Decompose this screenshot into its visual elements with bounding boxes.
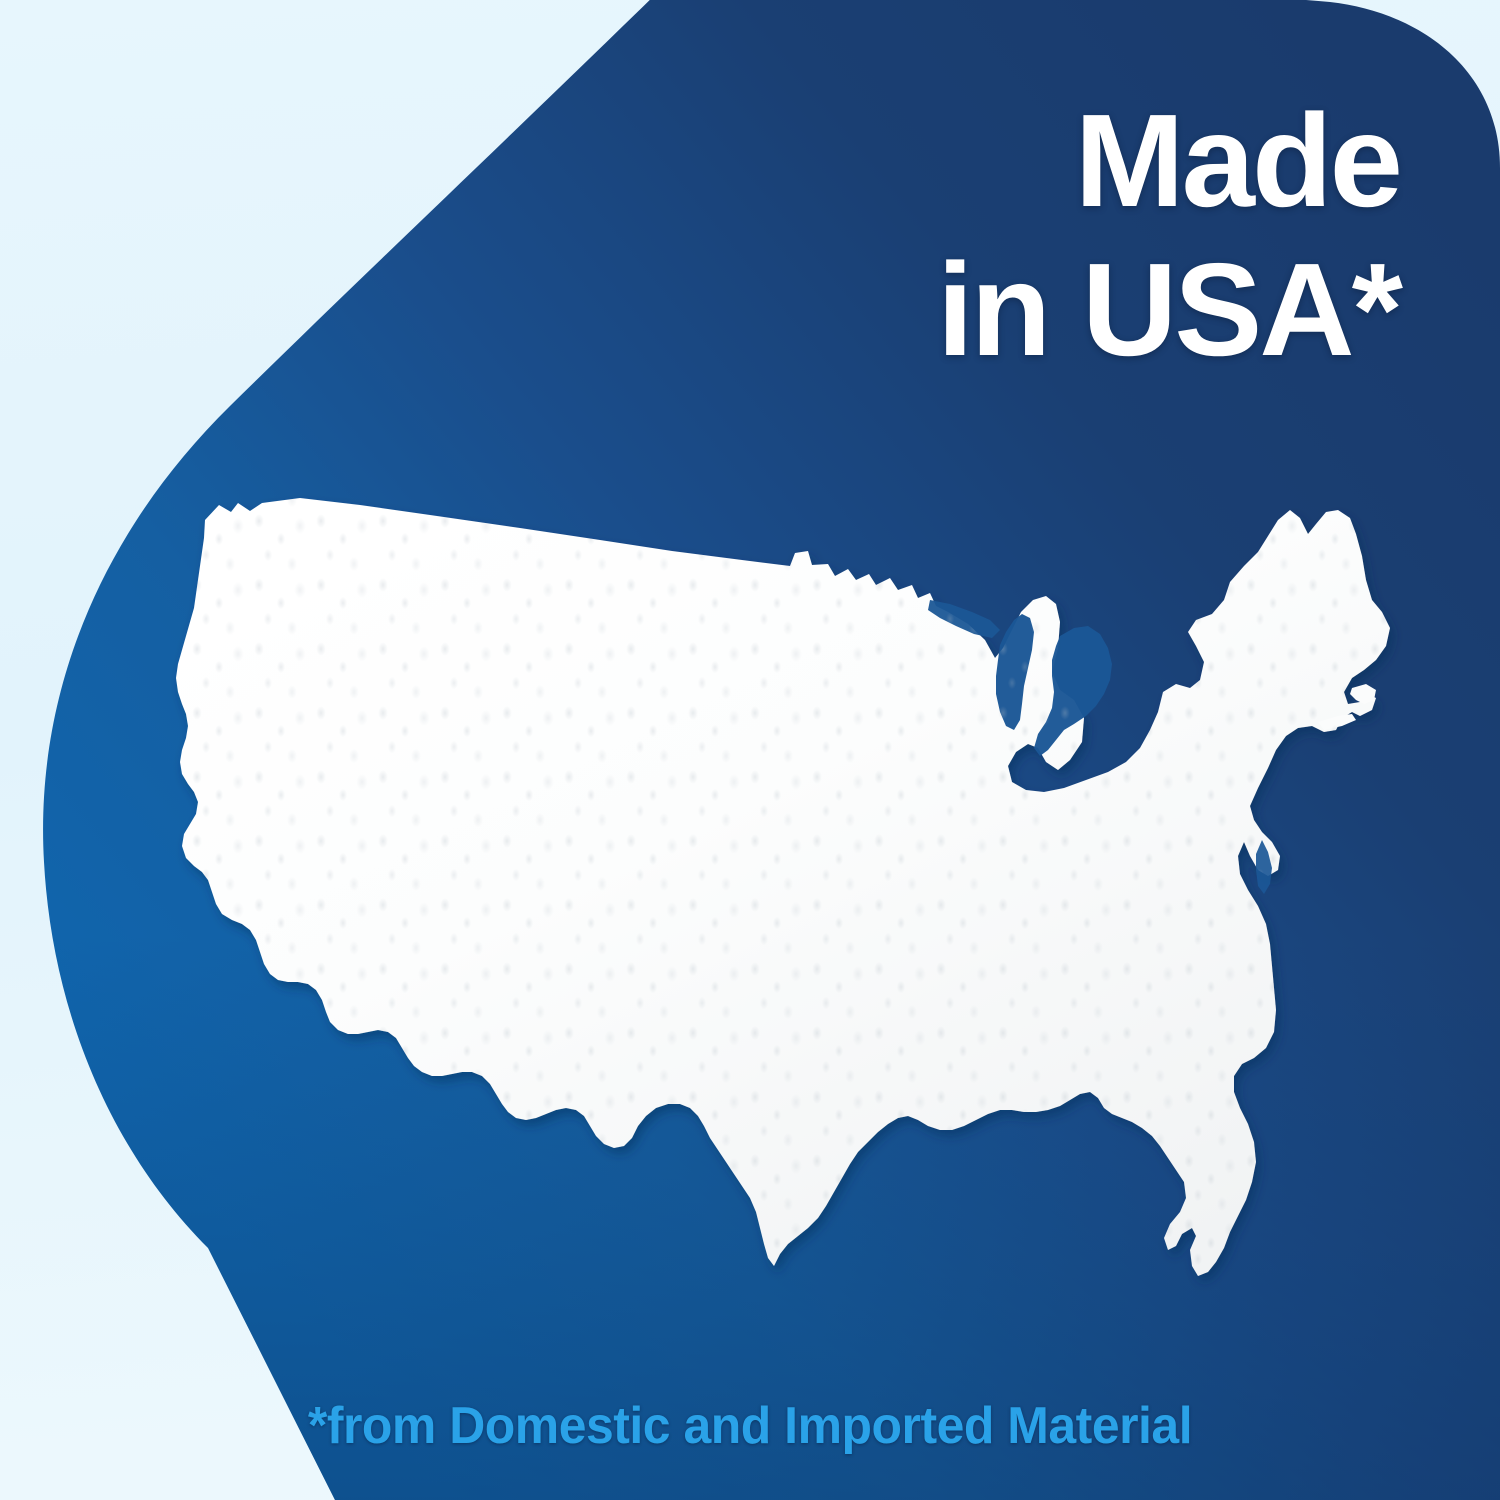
headline-line-2: in USA*: [680, 235, 1400, 384]
footnote-disclaimer: *from Domestic and Imported Material: [30, 1396, 1470, 1456]
usa-landmass: [176, 498, 1390, 1276]
page-title: Made in USA*: [680, 86, 1400, 384]
headline-line-1: Made: [680, 86, 1400, 235]
made-in-usa-banner: Made in USA* *from Domestic and Imported…: [0, 0, 1500, 1500]
